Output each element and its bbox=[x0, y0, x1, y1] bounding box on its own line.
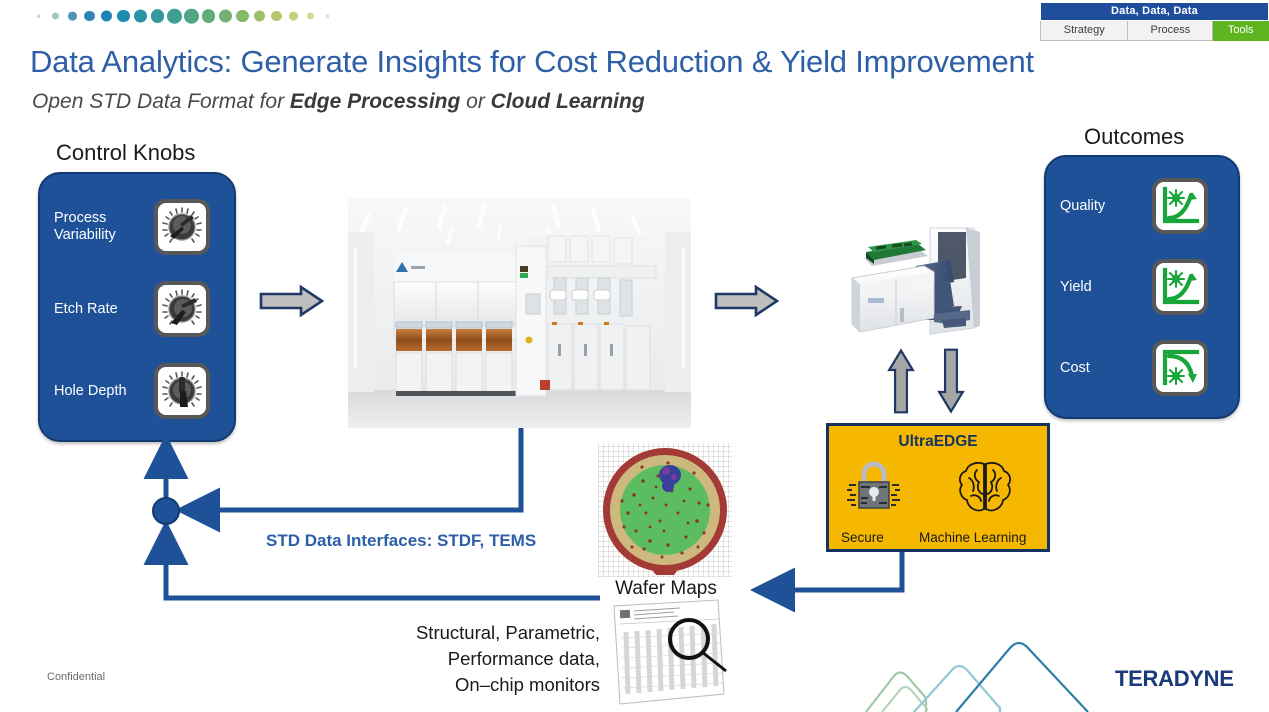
teradyne-mountains-logo bbox=[860, 628, 1150, 712]
nav-tab-process[interactable]: Process bbox=[1128, 21, 1213, 41]
std-data-interfaces-label: STD Data Interfaces: STDF, TEMS bbox=[266, 531, 536, 551]
falling-curve-chart-icon bbox=[1152, 340, 1208, 396]
subtitle-emphasis-edge: Edge Processing bbox=[290, 90, 460, 113]
decorative-dot bbox=[68, 12, 77, 21]
wafer-defect-map bbox=[598, 443, 732, 577]
outcome-row-cost[interactable]: Cost bbox=[1060, 337, 1226, 399]
outcomes-panel: Quality Yield bbox=[1044, 155, 1240, 419]
decorative-dot bbox=[307, 12, 314, 19]
decorative-dot bbox=[236, 10, 248, 22]
decorative-dot bbox=[167, 9, 182, 24]
decorative-dot-strip bbox=[30, 4, 350, 28]
ultraedge-title: UltraEDGE bbox=[829, 433, 1047, 451]
teradyne-wordmark: TERADYNE bbox=[1115, 666, 1234, 692]
ultraedge-box[interactable]: UltraEDGE bbox=[826, 423, 1050, 552]
outcome-label-cost: Cost bbox=[1060, 360, 1152, 377]
outcome-label-quality: Quality bbox=[1060, 198, 1152, 215]
control-knob-row-process-variability[interactable]: Process Variability bbox=[54, 196, 220, 258]
page-title: Data Analytics: Generate Insights for Co… bbox=[30, 44, 1034, 80]
decorative-dot bbox=[134, 10, 147, 23]
knob-icon bbox=[154, 281, 210, 337]
outcomes-heading: Outcomes bbox=[1084, 124, 1184, 150]
decorative-dot bbox=[117, 10, 129, 22]
page-subtitle: Open STD Data Format for Edge Processing… bbox=[32, 90, 645, 114]
control-knob-row-hole-depth[interactable]: Hole Depth bbox=[54, 360, 220, 422]
decorative-dot bbox=[326, 14, 330, 18]
decorative-dot bbox=[151, 9, 165, 23]
subtitle-part-2: or bbox=[460, 90, 490, 113]
control-knob-label-etch-rate: Etch Rate bbox=[54, 301, 154, 318]
semiconductor-tester-photo bbox=[838, 222, 998, 350]
subtitle-part-1: Open STD Data Format for bbox=[32, 90, 290, 113]
control-knob-label-hole-depth: Hole Depth bbox=[54, 383, 154, 400]
fab-equipment-photo bbox=[348, 198, 691, 428]
control-knobs-panel: Process Variability bbox=[38, 172, 236, 442]
outcome-row-yield[interactable]: Yield bbox=[1060, 256, 1226, 318]
decorative-dot bbox=[184, 9, 199, 24]
knob-icon bbox=[154, 199, 210, 255]
confidential-label: Confidential bbox=[47, 671, 105, 683]
arrow-fab-to-tester bbox=[714, 284, 780, 318]
flow-junction-node bbox=[153, 498, 179, 524]
decorative-dot bbox=[271, 11, 281, 21]
arrow-edge-to-tester-up bbox=[884, 348, 918, 414]
data-types-label: Structural, Parametric, Performance data… bbox=[374, 620, 600, 698]
subtitle-emphasis-cloud: Cloud Learning bbox=[491, 90, 645, 113]
knob-icon bbox=[154, 363, 210, 419]
decorative-dot bbox=[37, 14, 41, 18]
decorative-dot bbox=[202, 9, 216, 23]
decorative-dot bbox=[219, 10, 232, 23]
data-types-line-3: On–chip monitors bbox=[374, 672, 600, 698]
decorative-dot bbox=[52, 12, 59, 19]
nav-tab-tools[interactable]: Tools bbox=[1213, 21, 1269, 41]
decorative-dot bbox=[254, 10, 265, 21]
outcome-row-quality[interactable]: Quality bbox=[1060, 175, 1226, 237]
arrow-tester-to-edge-down bbox=[934, 348, 968, 414]
control-knob-row-etch-rate[interactable]: Etch Rate bbox=[54, 278, 220, 340]
wafer-map-label: Wafer Maps bbox=[607, 578, 725, 600]
control-knob-label-process-variability: Process Variability bbox=[54, 210, 154, 244]
outcome-label-yield: Yield bbox=[1060, 279, 1152, 296]
lock-icon bbox=[847, 458, 901, 516]
decorative-dot bbox=[84, 11, 94, 21]
nav-table: Data, Data, Data Strategy Process Tools bbox=[1040, 2, 1269, 41]
brain-icon bbox=[955, 458, 1015, 516]
tabular-data-sheet-with-magnifier bbox=[606, 598, 731, 710]
nav-title: Data, Data, Data bbox=[1041, 3, 1269, 21]
nav-tab-strategy[interactable]: Strategy bbox=[1041, 21, 1128, 41]
arrow-knobs-to-fab bbox=[259, 284, 325, 318]
decorative-dot bbox=[289, 12, 298, 21]
control-knobs-heading: Control Knobs bbox=[56, 140, 195, 166]
data-types-line-1: Structural, Parametric, bbox=[374, 620, 600, 646]
rising-curve-chart-icon bbox=[1152, 259, 1208, 315]
ultraedge-feature-label-machine-learning: Machine Learning bbox=[919, 530, 1026, 545]
decorative-dot bbox=[101, 10, 112, 21]
rising-curve-chart-icon bbox=[1152, 178, 1208, 234]
data-types-line-2: Performance data, bbox=[374, 646, 600, 672]
ultraedge-feature-label-secure: Secure bbox=[841, 530, 884, 545]
